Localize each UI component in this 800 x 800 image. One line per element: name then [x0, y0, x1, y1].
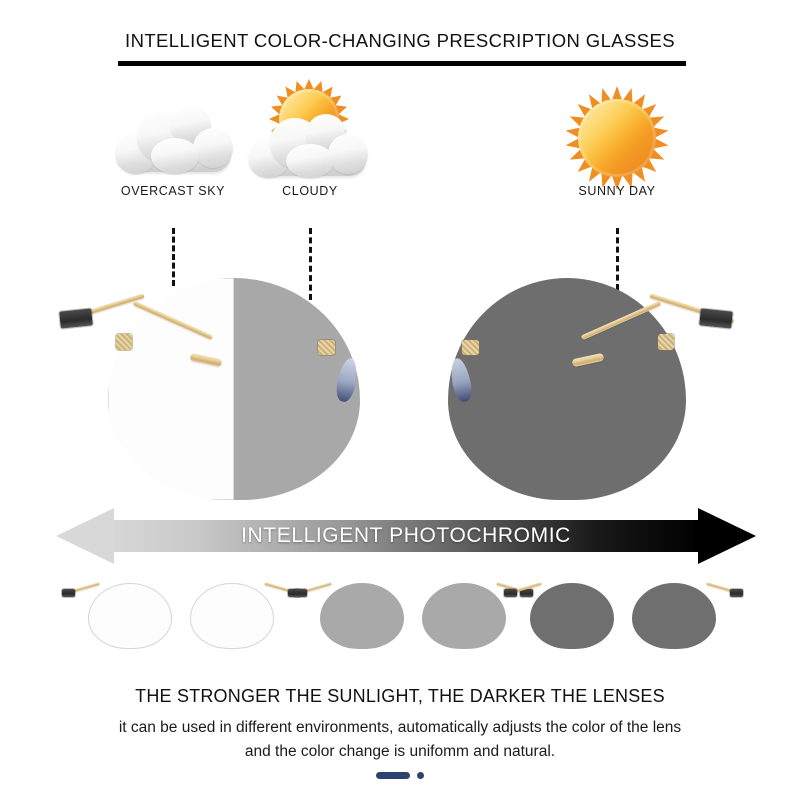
sample-lens-left — [530, 583, 614, 649]
hero-glasses-image — [0, 262, 800, 512]
sample-lens-right — [632, 583, 716, 649]
footer-description: it can be used in different environments… — [0, 716, 800, 764]
infographic-page: INTELLIGENT COLOR-CHANGING PRESCRIPTION … — [0, 0, 800, 800]
sample-bridge — [401, 591, 427, 595]
temple-ornament-right — [658, 334, 674, 350]
weather-item-overcast: OVERCAST SKY — [103, 76, 243, 216]
weather-item-cloudy: CLOUDY — [240, 76, 380, 216]
frame-bridge-arch — [372, 334, 434, 343]
photochromic-arrow-band: INTELLIGENT PHOTOCHROMIC — [56, 508, 756, 564]
sample-glasses-clear — [66, 565, 296, 657]
weather-label-sunny: SUNNY DAY — [578, 184, 655, 198]
sample-bridge — [611, 591, 637, 595]
sample-endpiece-left — [62, 589, 75, 597]
pagination-indicator-active[interactable] — [376, 772, 410, 779]
weather-conditions-row: OVERCAST SKY CLOUDY — [0, 76, 800, 216]
footer-tagline: THE STRONGER THE SUNLIGHT, THE DARKER TH… — [0, 686, 800, 707]
sample-lens-right — [190, 583, 274, 649]
temple-ornament-left — [116, 334, 132, 350]
pagination-indicator-1[interactable] — [417, 772, 424, 779]
carousel-pagination[interactable] — [0, 772, 800, 779]
weather-label-overcast: OVERCAST SKY — [121, 184, 225, 198]
weather-label-cloudy: CLOUDY — [282, 184, 338, 198]
page-title: INTELLIGENT COLOR-CHANGING PRESCRIPTION … — [0, 30, 800, 52]
tint-samples-row — [0, 565, 800, 657]
sun-ray — [654, 138, 669, 150]
sun-ray — [654, 126, 669, 138]
sun-ray — [612, 86, 622, 100]
footer-description-line-1: it can be used in different environments… — [0, 716, 800, 740]
cloud-icon — [248, 112, 368, 178]
sample-endpiece-left — [294, 589, 307, 597]
temple-endpiece-left — [59, 308, 93, 328]
temple-endpiece-right — [699, 308, 733, 328]
weather-item-sunny: SUNNY DAY — [547, 76, 687, 216]
hinge-ornament-left — [318, 340, 335, 355]
sample-bridge — [169, 591, 195, 595]
cloud-icon — [115, 104, 233, 174]
sample-lens-left — [88, 583, 172, 649]
sample-endpiece-right — [730, 589, 743, 597]
arrow-label: INTELLIGENT PHOTOCHROMIC — [56, 508, 756, 564]
sample-glasses-medium — [298, 565, 528, 657]
sample-lens-left — [320, 583, 404, 649]
hinge-ornament-right — [462, 340, 479, 355]
sun-icon — [565, 86, 669, 190]
title-underline — [118, 61, 686, 66]
hero-right-lens — [448, 278, 686, 500]
sample-endpiece-left — [504, 589, 517, 597]
footer-description-line-2: and the color change is unifomm and natu… — [0, 740, 800, 764]
sample-lens-right — [422, 583, 506, 649]
sample-glasses-dark — [508, 565, 738, 657]
